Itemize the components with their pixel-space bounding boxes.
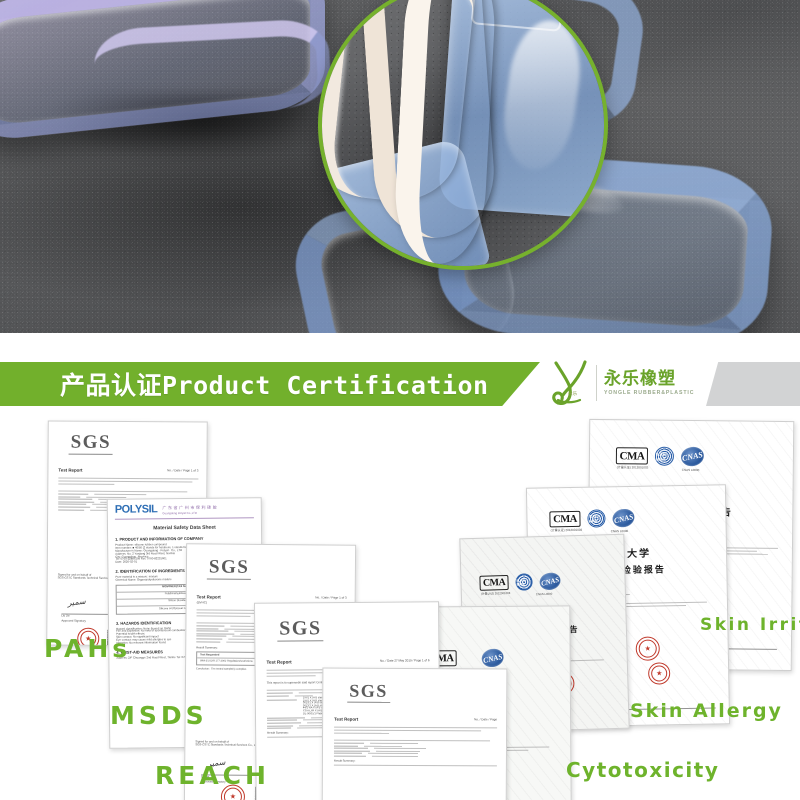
cnas-code: CNAS L0000 [682, 469, 700, 472]
zoom-detail-circle [318, 0, 608, 270]
category-label-msds: MSDS [110, 701, 208, 730]
cma-code: (计量认证) 2012001003 [481, 592, 510, 596]
certificate-collage: CMA ILAC-MRA CNAS (计量认证) 2012001003 CNAS… [0, 406, 800, 800]
category-label-skin-irritation: Skin Irritation [700, 614, 800, 637]
category-label-reach: REACH [155, 761, 270, 790]
sgs-logo: SGS [69, 432, 114, 456]
logo-name-en: YONGLE RUBBER&PLASTIC [604, 390, 694, 396]
sgs-logo: SGS [277, 617, 324, 642]
ilac-mra-mark: ILAC-MRA [587, 509, 605, 527]
page-title: 产品认证Product Certification [60, 362, 489, 406]
cma-code: (计量认证) 2012001003 [551, 529, 583, 533]
accreditation-marks: CMA ILAC-MRA CNAS [479, 573, 560, 592]
cma-mark: CMA [549, 511, 580, 528]
msds-section-1: 1. PRODUCT AND INFORMATION OF COMPANY [115, 536, 254, 542]
ilac-mra-mark: ILAC-MRA [515, 573, 532, 590]
logo-text-block: 永乐橡塑 YONGLE RUBBER&PLASTIC [596, 365, 694, 401]
official-seal-2 [648, 662, 670, 684]
sgs-logo: SGS [347, 681, 390, 703]
category-label-cytotoxicity: Cytotoxicity [566, 758, 719, 782]
cma-mark: CMA [616, 447, 648, 464]
zoom-detail-vent-hole [590, 40, 601, 51]
cnas-mark: CNAS [480, 647, 505, 669]
accreditation-marks: CMA ILAC-MRA CNAS [616, 446, 704, 466]
cma-mark: CMA [479, 575, 508, 591]
cnas-mark: CNAS [611, 507, 636, 529]
certificate-sgs-4[interactable]: SGS Test Report No. / Date / Page Result… [322, 668, 508, 800]
goggle-frame-purple-highlight [93, 18, 332, 118]
accreditation-marks: CMA ILAC-MRA CNAS [549, 509, 634, 528]
yongle-sprout-logo-icon: 永乐 [549, 359, 591, 407]
msds-doc-title: Material Safety Data Sheet [115, 525, 254, 532]
category-label-pahs: PAHs [44, 634, 131, 663]
cnas-code: CNAS L0000 [611, 530, 629, 533]
signature: سمير [67, 597, 86, 608]
product-photo [0, 0, 800, 333]
logo-name-cn: 永乐橡塑 [604, 370, 694, 388]
polysil-logo: POLYSIL [115, 504, 158, 515]
cma-code: (计量认证) 2012001003 [617, 466, 649, 469]
cnas-mark: CNAS [679, 445, 705, 468]
sgs-logo: SGS [207, 556, 252, 580]
header-gray-shape [706, 362, 800, 406]
doc-title: Test Report [58, 468, 82, 473]
doc-title: Test Report [334, 717, 358, 722]
category-label-skin-allergy: Skin Allergy [630, 700, 783, 722]
ilac-mra-mark: ILAC-MRA [655, 447, 674, 466]
doc-title: Test Report [197, 594, 221, 599]
cnas-mark: CNAS [538, 571, 562, 592]
svg-text:永乐: 永乐 [568, 390, 578, 397]
cnas-code: CNAS L0000 [536, 593, 552, 596]
doc-title: Test Report [266, 659, 291, 664]
official-seal [636, 636, 660, 660]
brand-logo: 永乐 永乐橡塑 YONGLE RUBBER&PLASTIC [549, 358, 704, 408]
